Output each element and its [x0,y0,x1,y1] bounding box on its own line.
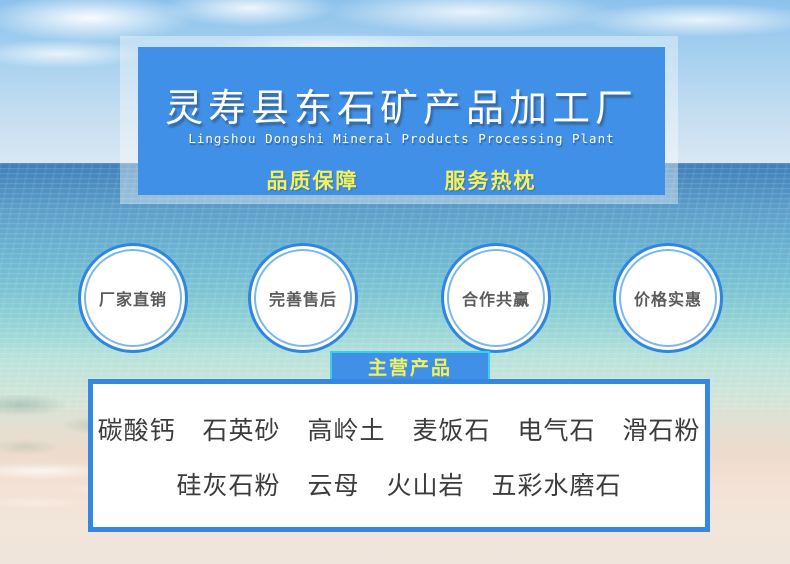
feature-circle-factory-direct: 厂家直销 [78,243,188,353]
company-title-english: Lingshou Dongshi Mineral Products Proces… [138,131,665,146]
feature-circle-cooperation: 合作共赢 [441,243,551,353]
product-item: 滑石粉 [622,416,700,445]
product-item: 高岭土 [308,416,386,445]
products-banner: 主营产品 [330,351,490,381]
feature-circle-label: 厂家直销 [99,286,167,310]
product-row: 硅灰石粉 云母 火山岩 五彩水磨石 [168,473,631,498]
products-banner-label: 主营产品 [368,353,452,380]
product-item: 麦饭石 [412,416,490,445]
promo-banner: 灵寿县东石矿产品加工厂 Lingshou Dongshi Mineral Pro… [0,0,790,564]
product-item: 云母 [308,471,360,500]
feature-circle-label: 合作共赢 [462,286,530,310]
feature-circle-label: 完善售后 [269,286,337,310]
product-item: 火山岩 [386,471,464,500]
feature-circle-label: 价格实惠 [634,286,702,310]
product-item: 电气石 [517,416,595,445]
slogan-group: 品质保障 服务热枕 [138,165,665,195]
product-item: 石英砂 [203,416,281,445]
product-item: 碳酸钙 [98,416,176,445]
product-item: 硅灰石粉 [177,471,281,500]
company-title: 灵寿县东石矿产品加工厂 [138,77,665,132]
feature-circle-group: 厂家直销 完善售后 合作共赢 价格实惠 [0,243,790,351]
product-item: 五彩水磨石 [491,471,621,500]
header-panel: 灵寿县东石矿产品加工厂 Lingshou Dongshi Mineral Pro… [138,47,665,195]
slogan-quality: 品质保障 [267,165,359,195]
products-panel: 碳酸钙 石英砂 高岭土 麦饭石 电气石 滑石粉 硅灰石粉 云母 火山岩 五彩水磨… [88,379,710,532]
product-row: 碳酸钙 石英砂 高岭土 麦饭石 电气石 滑石粉 [89,418,710,443]
slogan-service: 服务热枕 [445,165,537,195]
feature-circle-price: 价格实惠 [613,243,723,353]
feature-circle-after-sales: 完善售后 [248,243,358,353]
